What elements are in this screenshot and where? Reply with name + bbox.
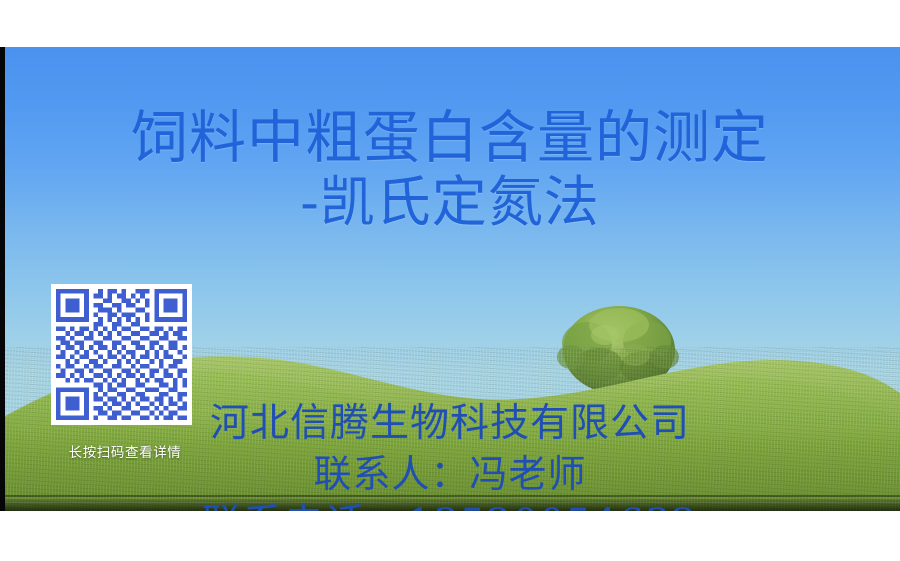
qr-code-image[interactable] (56, 289, 187, 420)
frame-left-bezel (0, 47, 5, 511)
slide-title-block: 饲料中粗蛋白含量的测定 -凯氏定氮法 (0, 109, 900, 231)
qr-code-overlay[interactable]: 长按扫码查看详情 (51, 284, 199, 461)
video-player-frame[interactable]: 饲料中粗蛋白含量的测定 -凯氏定氮法 长按扫码查看详情 河北信腾生物科技有限公司… (0, 47, 900, 511)
slide-title-secondary: -凯氏定氮法 (0, 174, 900, 231)
screenshot-canvas: 饲料中粗蛋白含量的测定 -凯氏定氮法 长按扫码查看详情 河北信腾生物科技有限公司… (0, 0, 900, 561)
contact-phone: 联系电话：13520054632 (0, 502, 900, 511)
qr-code-card[interactable] (51, 284, 192, 425)
slide-title-primary: 饲料中粗蛋白含量的测定 (0, 109, 900, 168)
qr-code-caption: 长按扫码查看详情 (51, 441, 199, 461)
